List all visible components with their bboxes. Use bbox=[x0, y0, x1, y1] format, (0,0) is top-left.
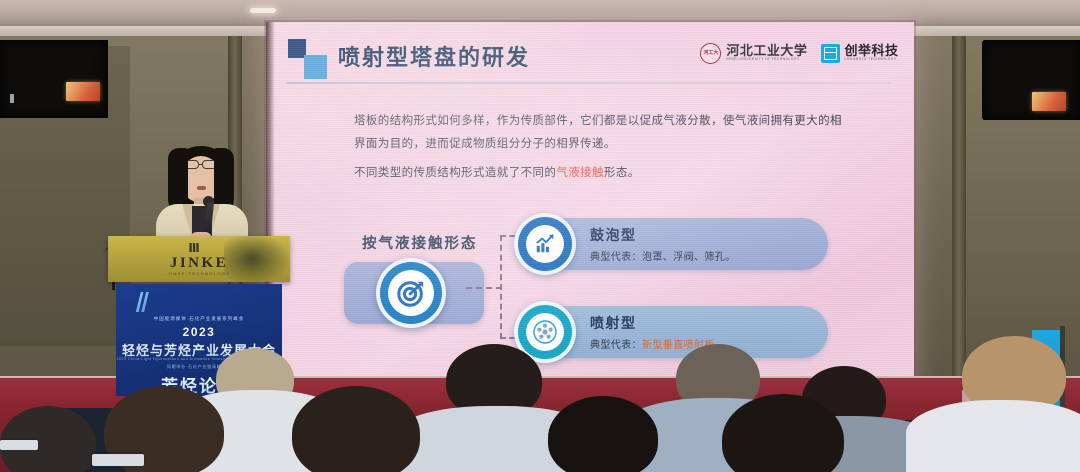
decor-square-light bbox=[304, 55, 327, 79]
target-icon-glyph bbox=[396, 278, 426, 308]
attendee-head bbox=[292, 386, 420, 472]
laptop bbox=[0, 440, 38, 450]
bar-chart-icon-glyph bbox=[534, 233, 556, 255]
attendee-head bbox=[548, 396, 658, 472]
body-paragraph-1: 塔板的结构形式如何多样，作为传质部件，它们都是以促成气液分散，使气液间拥有更大的… bbox=[354, 110, 874, 156]
body-highlight: 气液接触 bbox=[556, 167, 604, 179]
slide-title: 喷射型塔盘的研发 bbox=[338, 40, 530, 72]
bar-chart-icon bbox=[514, 213, 576, 275]
logo-hebei-university: 河工大 河北工业大学 HEBEI UNIVERSITY OF TECHNOLOG… bbox=[700, 43, 807, 64]
branch-title: 鼓泡型 bbox=[590, 225, 736, 245]
body-line-3-pre: 不同类型的传质结构形式造就了不同的 bbox=[354, 167, 556, 179]
title-decor-squares bbox=[288, 39, 332, 81]
audience bbox=[0, 322, 1080, 472]
body-line-2: 界面为目的，进而促成物质组分分子的相界传递。 bbox=[354, 138, 616, 150]
title-divider bbox=[286, 82, 890, 84]
podium-brand-sub: JINKE TECHNOLOGY bbox=[108, 271, 290, 276]
presenter bbox=[146, 140, 258, 244]
branch-subtitle: 典型代表：泡罩、浮阀、筛孔。 bbox=[590, 248, 736, 263]
company-name-en: CHUANGJU TECHNOLOGY bbox=[844, 58, 897, 62]
av-indicator-screen bbox=[1032, 92, 1066, 111]
branch-sub-prefix: 典型代表： bbox=[590, 252, 642, 263]
target-icon bbox=[376, 258, 446, 328]
body-line-1: 塔板的结构形式如何多样，作为传质部件，它们都是以促成气液分散，使气液间拥有更大的… bbox=[354, 115, 842, 127]
venue-photo: 喷射型塔盘的研发 河工大 河北工业大学 HEBEI UNIVERSITY OF … bbox=[0, 0, 1080, 472]
diagram-branch-bubbling: 鼓泡型 典型代表：泡罩、浮阀、筛孔。 bbox=[528, 218, 828, 270]
body-paragraph-2: 不同类型的传质结构形式造就了不同的气液接触形态。 bbox=[354, 162, 874, 185]
conference-logo-icon bbox=[134, 292, 152, 312]
slide-body-text: 塔板的结构形式如何多样，作为传质部件，它们都是以促成气液分散，使气液间拥有更大的… bbox=[354, 110, 874, 191]
diagram-root-label: 按气液接触形态 bbox=[362, 232, 478, 253]
university-seal-icon: 河工大 bbox=[700, 43, 721, 64]
university-name-cn: 河北工业大学 bbox=[726, 44, 807, 58]
branch-sub-value: 泡罩、浮阀、筛孔。 bbox=[642, 252, 736, 263]
company-name-cn: 创举科技 bbox=[844, 44, 900, 58]
attendee-shoulders bbox=[906, 400, 1080, 472]
ceiling-light bbox=[250, 8, 276, 13]
wall-speaker-left bbox=[0, 40, 108, 118]
wall-speaker-right bbox=[982, 40, 1080, 120]
body-line-3-post: 形态。 bbox=[604, 167, 640, 179]
podium-brand-name: JINKE bbox=[108, 255, 290, 272]
laptop bbox=[92, 454, 144, 466]
logo-chuangju-technology: 创举科技 CHUANGJU TECHNOLOGY bbox=[821, 44, 900, 63]
podium-brand-panel: Ⅲ JINKE JINKE TECHNOLOGY bbox=[108, 236, 290, 282]
av-indicator-screen bbox=[66, 82, 100, 101]
jinke-mark-icon: Ⅲ bbox=[186, 242, 202, 255]
university-name-en: HEBEI UNIVERSITY OF TECHNOLOGY bbox=[726, 58, 803, 62]
attendee-head bbox=[0, 406, 96, 472]
av-led bbox=[10, 94, 14, 103]
company-mark-icon bbox=[821, 44, 840, 63]
slide-logos: 河工大 河北工业大学 HEBEI UNIVERSITY OF TECHNOLOG… bbox=[700, 36, 900, 70]
